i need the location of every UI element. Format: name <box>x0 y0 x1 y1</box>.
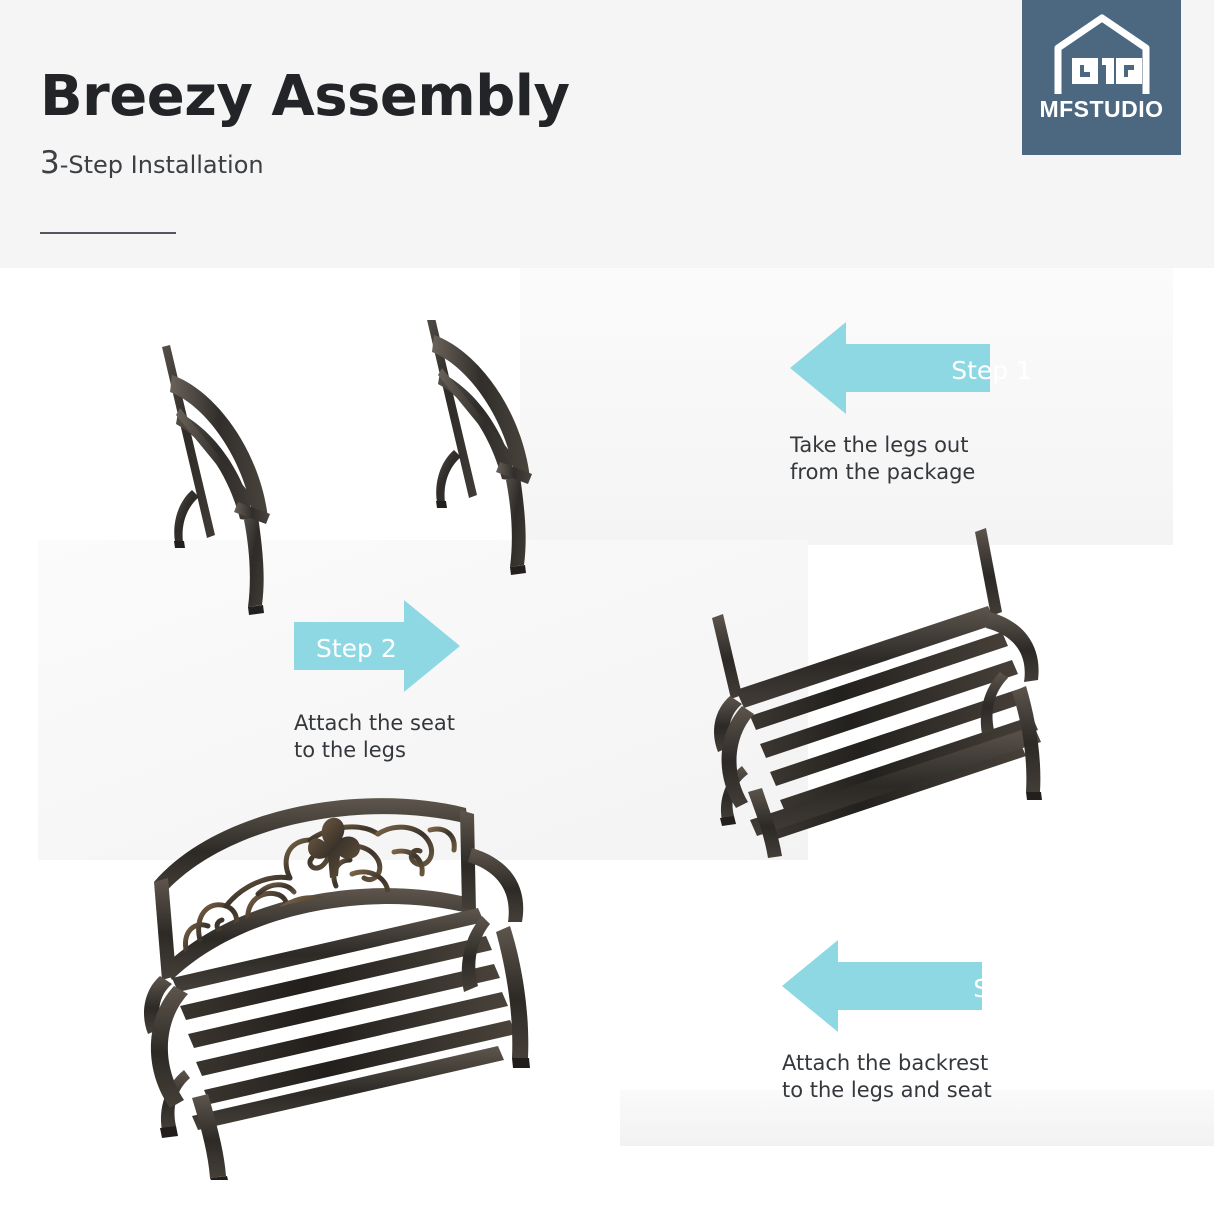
step-1-block: Step 1 Take the legs out from the packag… <box>790 322 1050 487</box>
step-1-arrow-left-icon: Step 1 <box>790 322 1050 418</box>
bench-back-posts <box>712 528 1002 699</box>
assembly-instruction-page: Breezy Assembly 3-Step Installation MFST… <box>0 0 1214 1214</box>
bench-leg-left <box>162 345 270 615</box>
bench-leg-right-assembled <box>462 916 530 1068</box>
header-divider-rule <box>40 232 176 234</box>
subtitle-text: -Step Installation <box>60 151 264 179</box>
step-2-caption: Attach the seat to the legs <box>294 710 554 765</box>
page-subtitle: 3-Step Installation <box>40 148 264 179</box>
bench-seat-frame-image <box>690 520 1120 860</box>
step-3-caption: Attach the backrest to the legs and seat <box>782 1050 1072 1105</box>
page-title: Breezy Assembly <box>40 64 569 129</box>
step-2-arrow-right-icon: Step 2 <box>294 600 554 696</box>
brand-wordmark: MFSTUDIO <box>1022 96 1181 123</box>
subtitle-step-count: 3 <box>40 145 60 181</box>
house-gtg-icon <box>1050 14 1154 98</box>
bench-legs-pair-image <box>120 320 550 640</box>
brand-logo: MFSTUDIO <box>1022 0 1181 155</box>
bench-leg-right <box>424 320 532 575</box>
step-3-block: Step 3 Attach the backrest to the legs a… <box>782 940 1072 1105</box>
step-2-block: Step 2 Attach the seat to the legs <box>294 600 554 765</box>
step-3-arrow-left-icon: Step 3 <box>782 940 1072 1036</box>
step-1-caption: Take the legs out from the package <box>790 432 1050 487</box>
assembled-bench-image <box>130 790 610 1180</box>
